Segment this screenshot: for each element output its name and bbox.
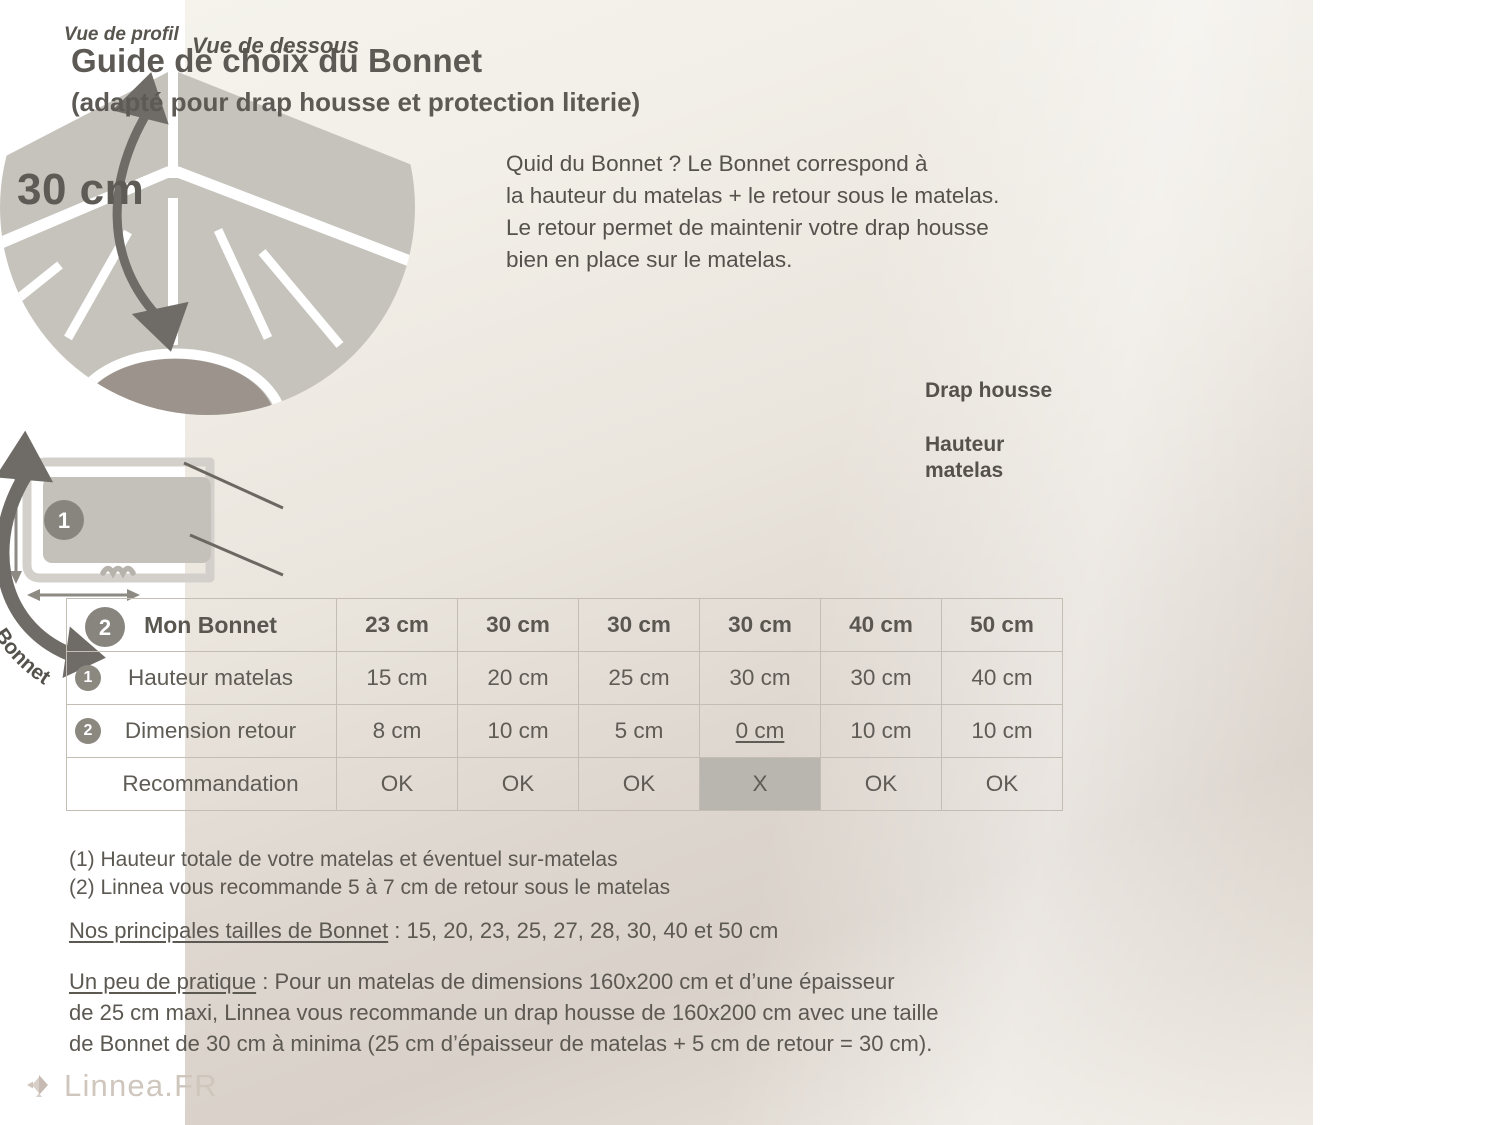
footnotes: (1) Hauteur totale de votre matelas et é… [69,846,670,901]
sizes-line: Nos principales tailles de Bonnet : 15, … [69,916,778,945]
table-cell: OK [942,758,1063,811]
bonnet-table: Mon Bonnet23 cm30 cm30 cm30 cm40 cm50 cm… [66,598,1063,811]
table-cell: 30 cm [821,652,942,705]
table-cell: 5 cm [579,705,700,758]
table-cell: 10 cm [821,705,942,758]
table-row: 1Hauteur matelas15 cm20 cm25 cm30 cm30 c… [67,652,1063,705]
table-cell: 15 cm [337,652,458,705]
table-cell: 40 cm [942,652,1063,705]
badge-1-text: 1 [58,508,70,533]
table-cell-underlined-value: 0 cm [736,718,785,743]
table-cell: X [700,758,821,811]
table-cell: 0 cm [700,705,821,758]
row-label-text: Dimension retour [125,718,296,743]
table-cell: 30 cm [700,652,821,705]
infographic-canvas: Guide de choix du Bonnet (adapté pour dr… [0,0,1500,1125]
sizes-lead: Nos principales tailles de Bonnet [69,918,388,943]
title-subtitle: (adapté pour drap housse et protection l… [71,86,640,119]
intro-paragraph: Quid du Bonnet ? Le Bonnet correspond à … [506,148,1106,276]
table-row-label: 2Dimension retour [67,705,337,758]
brand-logo[interactable]: Linnea.FR [25,1068,218,1104]
table-cell: 20 cm [458,652,579,705]
footnote-1: (1) Hauteur totale de votre matelas et é… [69,846,670,874]
row-label-text: Hauteur matelas [128,665,293,690]
table-header-label: Mon Bonnet [67,599,337,652]
table-header-cell: 50 cm [942,599,1063,652]
callout-drap-housse: Drap housse [925,378,1052,404]
row-label-text: Recommandation [122,771,298,796]
table-row-label: 1Hauteur matelas [67,652,337,705]
table-row: 2Dimension retour8 cm10 cm5 cm0 cm10 cm1… [67,705,1063,758]
table-header-cell: 30 cm [579,599,700,652]
table-header-cell: 30 cm [700,599,821,652]
table-cell: OK [337,758,458,811]
table-cell: OK [821,758,942,811]
profile-view-caption: Vue de profil [64,24,179,46]
content-layer: Guide de choix du Bonnet (adapté pour dr… [0,0,1500,1125]
table-cell: OK [579,758,700,811]
bottom-view-caption: Vue de dessous [192,33,359,59]
table-header-cell: 30 cm [458,599,579,652]
diamond-leaf-icon [25,1072,53,1100]
row-number-badge: 1 [75,665,101,691]
sizes-rest: : 15, 20, 23, 25, 27, 28, 30, 40 et 50 c… [388,918,778,943]
practice-lead: Un peu de pratique [69,969,256,994]
practice-paragraph: Un peu de pratique : Pour un matelas de … [69,966,1079,1060]
table-header-row: Mon Bonnet23 cm30 cm30 cm30 cm40 cm50 cm [67,599,1063,652]
table-header-cell: 40 cm [821,599,942,652]
measurement-30cm-label: 30 cm [17,165,144,215]
table-cell: 25 cm [579,652,700,705]
callout-hauteur-matelas: Hauteur matelas [925,432,1004,483]
table-cell: 10 cm [458,705,579,758]
table-cell: 10 cm [942,705,1063,758]
brand-logo-text: Linnea.FR [64,1068,218,1104]
table-cell: 8 cm [337,705,458,758]
bonnet-table-wrapper: Mon Bonnet23 cm30 cm30 cm30 cm40 cm50 cm… [66,598,1063,811]
table-cell: OK [458,758,579,811]
table-row-label: Recommandation [67,758,337,811]
table-header-cell: 23 cm [337,599,458,652]
table-row: RecommandationOKOKOKXOKOK [67,758,1063,811]
row-number-badge: 2 [75,718,101,744]
footnote-2: (2) Linnea vous recommande 5 à 7 cm de r… [69,874,670,902]
